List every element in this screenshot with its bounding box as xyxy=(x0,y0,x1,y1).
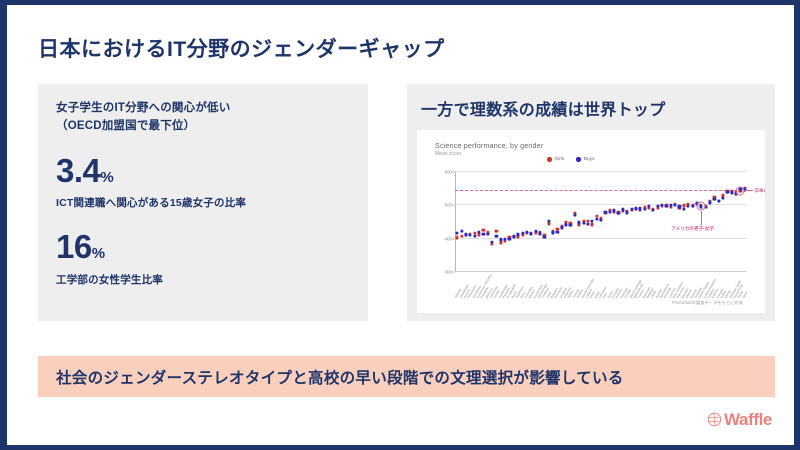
lead-line-2: （OECD加盟国で最下位） xyxy=(56,118,350,136)
chart-annotation-connector xyxy=(745,190,753,191)
chart-data-point xyxy=(477,233,480,236)
chart-data-point xyxy=(626,211,629,214)
chart-data-point xyxy=(456,236,459,239)
chart-data-point xyxy=(565,223,568,226)
stat-unit-engineering: % xyxy=(92,245,105,262)
legend-dot-boys-icon xyxy=(576,157,581,162)
stat-unit-ict: % xyxy=(100,169,113,186)
chart-data-point xyxy=(673,203,676,206)
chart-reference-line xyxy=(455,190,747,191)
chart-data-point xyxy=(495,229,498,232)
science-performance-chart: Science performance, by gender Mean scor… xyxy=(417,130,765,313)
chart-annotation-connector xyxy=(701,211,702,225)
chart-data-point xyxy=(599,218,602,221)
waffle-logo-text: Waffle xyxy=(724,411,772,428)
chart-annotation: アメリカの男子・女子 xyxy=(671,226,714,232)
chart-data-point xyxy=(608,210,611,213)
chart-highlight-ring xyxy=(697,201,706,210)
chart-data-point xyxy=(551,231,554,234)
chart-data-point xyxy=(560,226,563,229)
chart-data-point xyxy=(617,212,620,215)
chart-y-axis xyxy=(455,172,456,272)
chart-y-tick-label: 500 xyxy=(445,203,452,208)
lead-line-1: 女子学生のIT分野への関心が低い xyxy=(56,100,350,118)
chart-title: Science performance, by gender xyxy=(435,141,543,150)
stat-number-ict: 3.4 xyxy=(56,152,100,189)
chart-source-note: PISA2022の調査データをもとに作成 xyxy=(672,300,743,306)
chart-data-point xyxy=(726,190,729,193)
chart-data-point xyxy=(691,205,694,208)
chart-x-tick-labels: AlbaniaUzbekistanKosovoPhilippinesCambod… xyxy=(455,273,747,299)
chart-data-point xyxy=(652,209,655,212)
chart-data-point xyxy=(469,234,472,237)
chart-y-tick-label: 400 xyxy=(445,236,452,241)
chart-data-point xyxy=(556,230,559,233)
legend-item-boys: Boys xyxy=(576,157,594,162)
stat-block-engineering: 16% 工学部の女性学生比率 xyxy=(56,230,350,287)
chart-plot-area: 300400500600日本の女子アメリカの男子・女子 xyxy=(455,172,747,272)
chart-legend: Girls Boys xyxy=(547,157,595,162)
chart-highlight-ring xyxy=(736,187,745,196)
chart-data-point xyxy=(687,204,690,207)
chart-y-tick-mark xyxy=(452,238,455,239)
slide-canvas: 日本におけるIT分野のジェンダーギャップ 女子学生のIT分野への関心が低い （O… xyxy=(7,5,794,445)
conclusion-banner: 社会のジェンダーステレオタイプと高校の早い段階での文理選択が影響している xyxy=(38,356,775,397)
chart-data-point xyxy=(643,207,646,210)
chart-data-point xyxy=(713,198,716,201)
stat-value-engineering: 16% xyxy=(56,230,350,265)
chart-data-point xyxy=(482,228,485,231)
chart-data-point xyxy=(508,238,511,241)
chart-data-point xyxy=(721,197,724,200)
chart-data-point xyxy=(538,232,541,235)
page-title: 日本におけるIT分野のジェンダーギャップ xyxy=(38,33,445,63)
legend-item-girls: Girls xyxy=(547,157,564,162)
stat-caption-ict: ICT関連職へ関心がある15歳女子の比率 xyxy=(56,195,350,210)
stat-number-engineering: 16 xyxy=(56,228,92,265)
chart-data-point xyxy=(460,230,463,233)
chart-data-point xyxy=(486,233,489,236)
chart-data-point xyxy=(730,191,733,194)
stat-value-ict: 3.4% xyxy=(56,154,350,189)
legend-dot-girls-icon xyxy=(547,157,552,162)
chart-subtitle: Mean score xyxy=(435,151,461,157)
stat-caption-engineering: 工学部の女性学生比率 xyxy=(56,272,350,287)
slide-frame: 日本におけるIT分野のジェンダーギャップ 女子学生のIT分野への関心が低い （O… xyxy=(0,0,800,450)
chart-card-title: 一方で理数系の成績は世界トップ xyxy=(421,96,765,120)
chart-data-point xyxy=(717,200,720,203)
chart-gridline xyxy=(455,171,747,172)
chart-data-point xyxy=(573,214,576,217)
chart-annotation: 日本の女子 xyxy=(754,188,765,194)
chart-data-point xyxy=(582,221,585,224)
chart-y-tick-label: 600 xyxy=(445,170,452,175)
waffle-logo-icon xyxy=(707,412,722,427)
chart-data-point xyxy=(569,223,572,226)
chart-data-point xyxy=(456,231,459,234)
stat-block-ict: 3.4% ICT関連職へ関心がある15歳女子の比率 xyxy=(56,154,350,211)
chart-data-point xyxy=(682,207,685,210)
legend-label-boys: Boys xyxy=(584,157,595,162)
chart-data-point xyxy=(591,223,594,226)
chart-y-tick-mark xyxy=(452,172,455,173)
chart-data-point xyxy=(591,220,594,223)
chart-y-tick-mark xyxy=(452,205,455,206)
chart-data-point xyxy=(499,241,502,244)
waffle-logo: Waffle xyxy=(707,411,772,428)
chart-card: 一方で理数系の成績は世界トップ Science performance, by … xyxy=(407,84,775,321)
chart-data-point xyxy=(595,217,598,220)
chart-y-tick-label: 300 xyxy=(445,270,452,275)
chart-data-point xyxy=(665,204,668,207)
stats-card: 女子学生のIT分野への関心が低い （OECD加盟国で最下位） 3.4% ICT関… xyxy=(38,84,368,321)
chart-data-point xyxy=(586,222,589,225)
legend-label-girls: Girls xyxy=(555,157,565,162)
conclusion-banner-text: 社会のジェンダーステレオタイプと高校の早い段階での文理選択が影響している xyxy=(56,366,624,388)
chart-gridline xyxy=(455,271,747,272)
chart-data-point xyxy=(547,222,550,225)
chart-data-point xyxy=(482,233,485,236)
